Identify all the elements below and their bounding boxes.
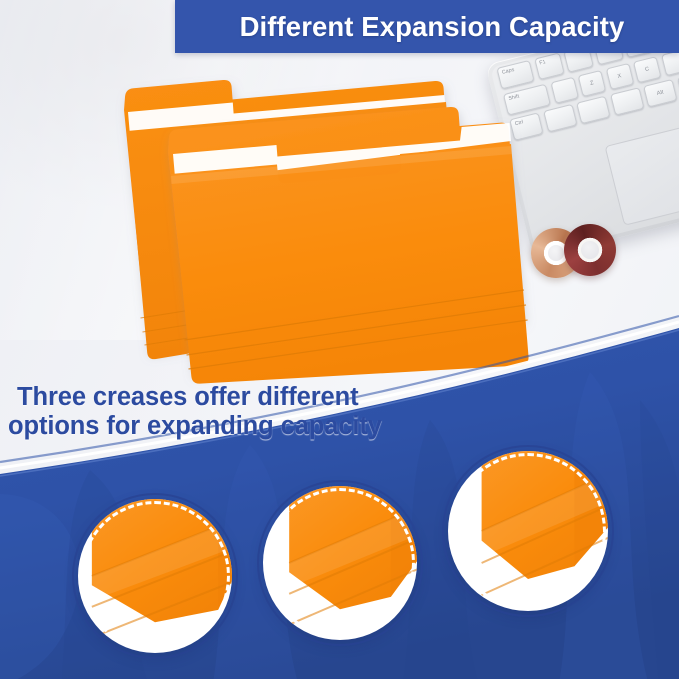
folder-stack bbox=[0, 0, 679, 420]
headline-line-2: options for expanding capacity bbox=[8, 412, 437, 441]
folder-stack-svg bbox=[0, 0, 679, 420]
folder-front-front-panel bbox=[171, 144, 529, 384]
detail-circle-crease-2 bbox=[263, 486, 417, 640]
gusset-illustration bbox=[263, 486, 417, 640]
gusset-illustration bbox=[448, 451, 608, 611]
detail-circle-crease-3 bbox=[448, 451, 608, 611]
detail-circle-crease-1 bbox=[78, 499, 232, 653]
banner-title: Different Expansion Capacity bbox=[230, 13, 625, 41]
headline-line-1: Three creases offer different bbox=[17, 383, 358, 411]
header-banner: Different Expansion Capacity bbox=[175, 0, 679, 53]
gusset-illustration bbox=[78, 499, 232, 653]
infographic-canvas: CapsF1ShiftZXCCtrlAlt bbox=[0, 0, 679, 679]
feature-headline: Three creases offer different options fo… bbox=[17, 383, 437, 441]
